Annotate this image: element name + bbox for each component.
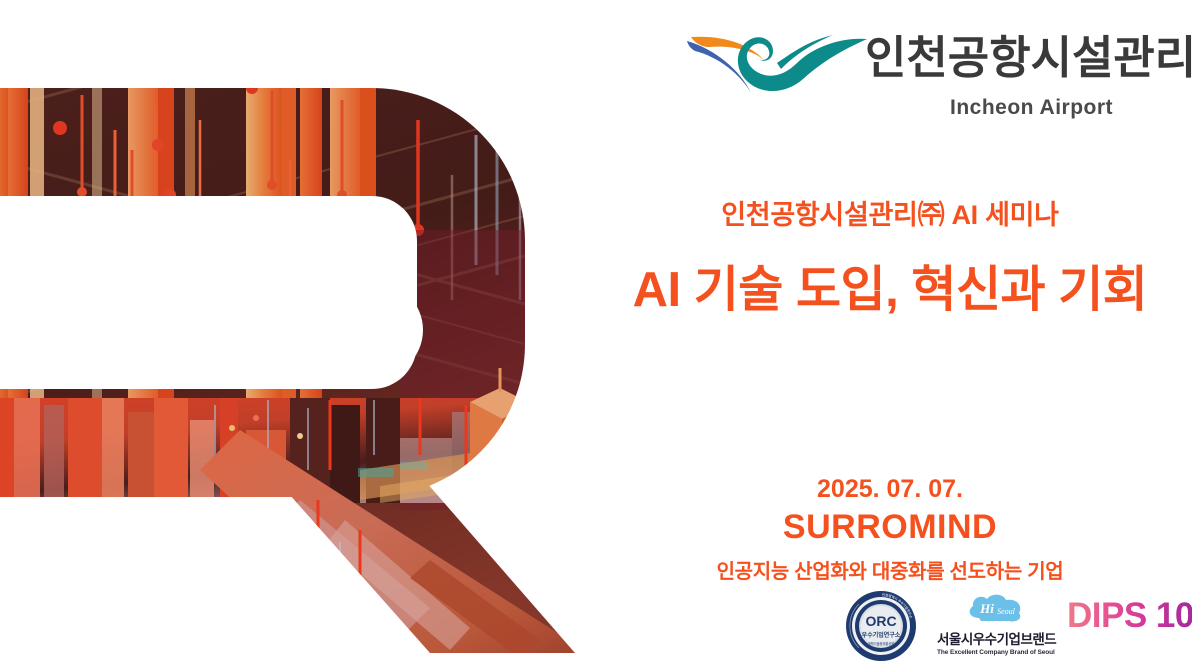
seminar-title: AI 기술 도입, 혁신과 기회 (600, 250, 1180, 321)
svg-text:Seoul: Seoul (997, 607, 1016, 616)
hi-seoul-badge: Hi Seoul 서울시우수기업브랜드 The Excellent Compan… (937, 590, 1052, 656)
dips-badge: DIPS 1000+ (1067, 598, 1192, 633)
orc-badge: ORC 우수기업연구소 과학기술정보통신부 인천광역시 우수기업연구소 (845, 590, 929, 662)
event-date: 2025. 07. 07. (600, 475, 1180, 504)
hi-seoul-english-label: The Excellent Company Brand of Seoul (937, 649, 1052, 656)
logo-korean-name: 인천공항시설관리 (865, 35, 1192, 80)
company-name: SURROMIND (600, 508, 1180, 547)
incheon-airport-logo: 인천공항시설관리 Incheon Airport (685, 25, 1165, 130)
hi-seoul-mark-text: Hi (979, 601, 994, 616)
presentation-slide: 인천공항시설관리 Incheon Airport 인천공항시설관리㈜ AI 세미… (0, 0, 1192, 671)
surromind-r-letterform-graphic (0, 0, 620, 671)
slide-content-column: 인천공항시설관리 Incheon Airport 인천공항시설관리㈜ AI 세미… (600, 0, 1192, 671)
logo-english-name: Incheon Airport (950, 97, 1113, 118)
hi-seoul-korean-label: 서울시우수기업브랜드 (937, 628, 1052, 648)
dips-label: DIPS 1000 (1067, 596, 1192, 635)
orc-acronym: ORC (865, 613, 896, 629)
company-tagline: 인공지능 산업화와 대중화를 선도하는 기업 (600, 555, 1180, 584)
orc-korean-label: 우수기업연구소 (862, 631, 901, 639)
orc-ring-bottom-text: 과학기술정보통신부 (868, 641, 894, 646)
incheon-airport-wave-icon (685, 27, 870, 105)
award-badges: ORC 우수기업연구소 과학기술정보통신부 인천광역시 우수기업연구소 Hi (845, 590, 1192, 668)
seminar-subtitle: 인천공항시설관리㈜ AI 세미나 (600, 193, 1180, 232)
